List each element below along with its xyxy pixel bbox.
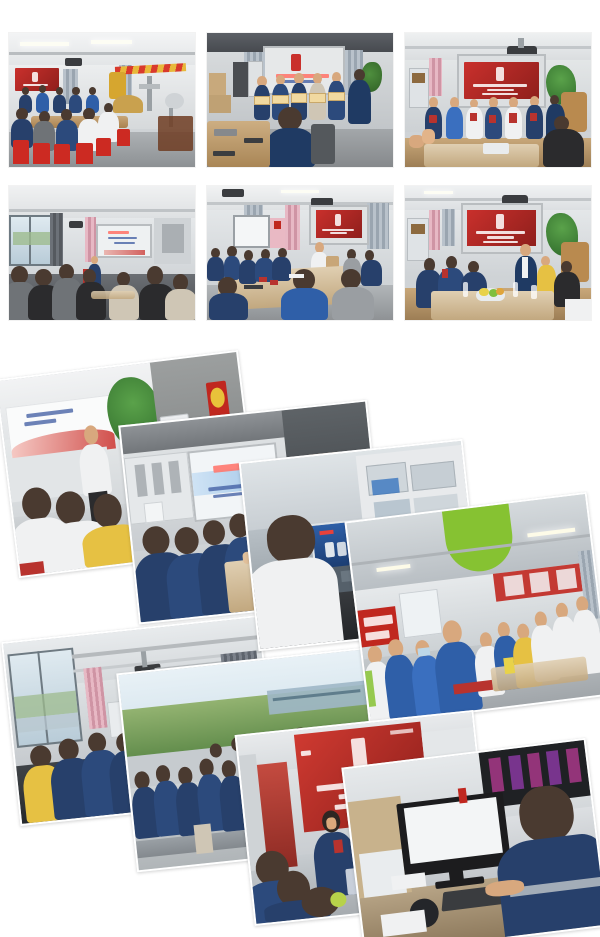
grid-photo-5-image (207, 186, 393, 320)
photo-grid (8, 32, 592, 321)
grid-photo-3[interactable] (404, 32, 592, 168)
collage-photo-4-image (347, 494, 600, 723)
grid-photo-6[interactable] (404, 185, 592, 321)
grid-photo-2-image (207, 33, 393, 167)
grid-photo-5[interactable] (206, 185, 394, 321)
grid-photo-3-image (405, 33, 591, 167)
collage-photo-8[interactable] (341, 738, 600, 937)
collage-photo-8-image (344, 740, 600, 937)
photo-collage (0, 330, 600, 937)
grid-photo-4-image (9, 186, 195, 320)
gallery-page (0, 0, 600, 937)
grid-photo-2[interactable] (206, 32, 394, 168)
grid-photo-1-image (9, 33, 195, 167)
grid-photo-4[interactable] (8, 185, 196, 321)
grid-photo-6-image (405, 186, 591, 320)
collage-photo-4[interactable] (344, 492, 600, 725)
grid-photo-1[interactable] (8, 32, 196, 168)
